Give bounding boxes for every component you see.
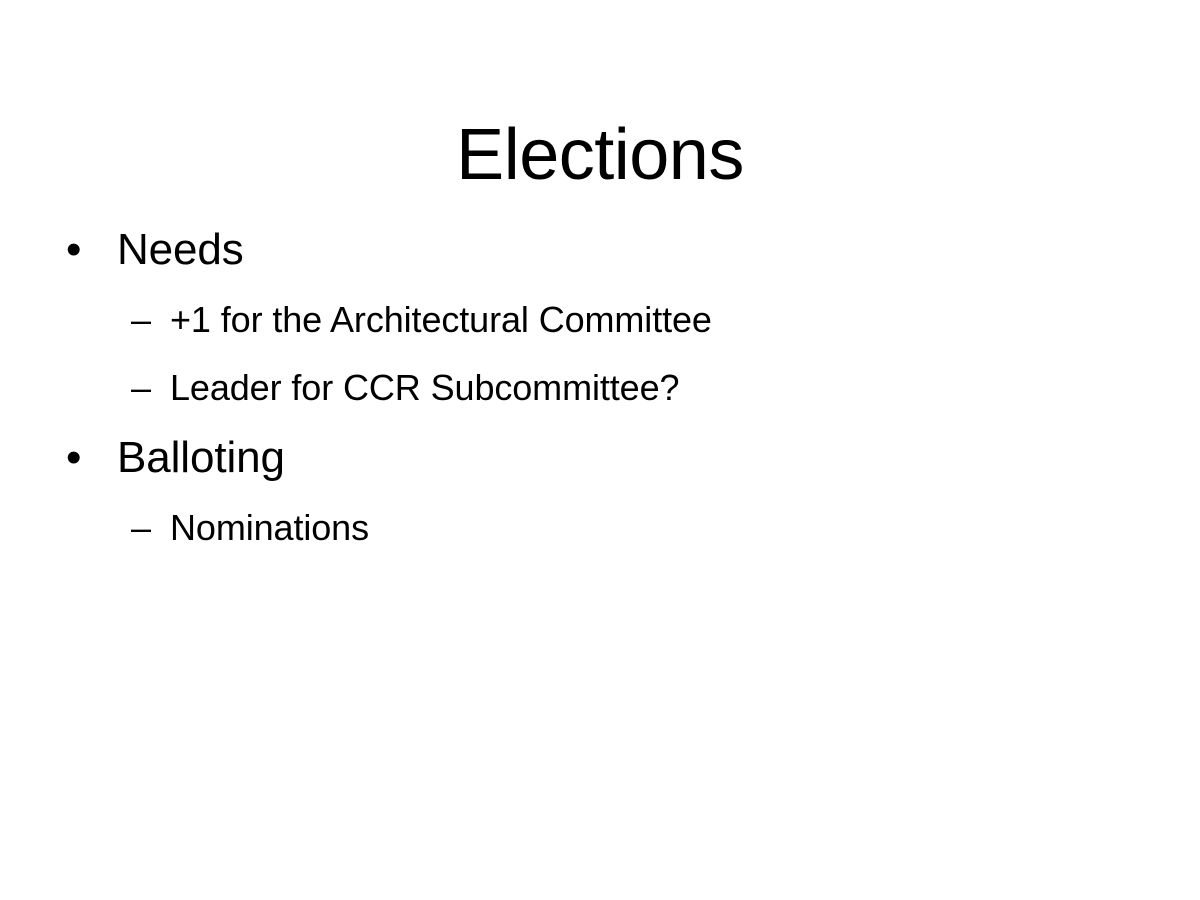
- slide-body-content: • Needs – +1 for the Architectural Commi…: [0, 214, 1200, 562]
- list-item-label: Balloting: [117, 422, 285, 494]
- round-bullet-icon: •: [66, 214, 117, 286]
- list-item-label: Leader for CCR Subcommittee?: [170, 354, 679, 422]
- list-item-label: Needs: [117, 214, 244, 286]
- list-item-label: Nominations: [170, 494, 369, 562]
- round-bullet-icon: •: [66, 422, 117, 494]
- en-dash-bullet-icon: –: [131, 354, 170, 422]
- presentation-slide: Elections • Needs – +1 for the Architect…: [0, 0, 1200, 900]
- en-dash-bullet-icon: –: [131, 286, 170, 354]
- list-item: – Nominations: [0, 494, 1200, 562]
- page-title: Elections: [0, 112, 1200, 198]
- list-item: – Leader for CCR Subcommittee?: [0, 354, 1200, 422]
- en-dash-bullet-icon: –: [131, 494, 170, 562]
- list-item-label: +1 for the Architectural Committee: [170, 286, 712, 354]
- list-item: • Needs: [0, 214, 1200, 286]
- list-item: • Balloting: [0, 422, 1200, 494]
- list-item: – +1 for the Architectural Committee: [0, 286, 1200, 354]
